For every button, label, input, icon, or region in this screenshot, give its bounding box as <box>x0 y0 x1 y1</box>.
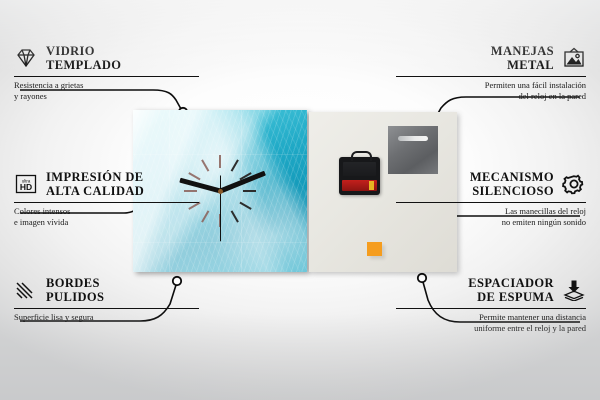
mechanism-housing <box>343 162 376 176</box>
feature-description: Resistencia a grietas y rayones <box>14 80 199 101</box>
feature-rule <box>14 202 199 203</box>
clock-center-cap <box>218 189 223 194</box>
feature-title: IMPRESIÓN DE ALTA CALIDAD <box>46 170 144 198</box>
gear-icon <box>562 173 586 195</box>
ultra-hd-icon-hd: HD <box>20 182 32 192</box>
feature-bordes-pulidos: BORDES PULIDOS Superficie lisa y segura <box>14 276 199 323</box>
feature-description: Permiten una fácil instalación del reloj… <box>396 80 586 101</box>
feature-title: BORDES PULIDOS <box>46 276 104 304</box>
feature-vidrio-templado: VIDRIO TEMPLADO Resistencia a grietas y … <box>14 44 199 101</box>
infographic-canvas: VIDRIO TEMPLADO Resistencia a grietas y … <box>0 0 600 400</box>
feature-description: Permite mantener una distancia uniforme … <box>396 312 586 333</box>
feature-title: ESPACIADOR DE ESPUMA <box>468 276 554 304</box>
feature-impresion-alta-calidad: ultra HD IMPRESIÓN DE ALTA CALIDAD Color… <box>14 170 199 227</box>
feature-rule <box>396 76 586 77</box>
feature-description: Superficie lisa y segura <box>14 312 199 323</box>
hanger-slot <box>398 136 428 141</box>
feature-espaciador-de-espuma: ESPACIADOR DE ESPUMA Permite mantener un… <box>396 276 586 333</box>
feature-rule <box>14 76 199 77</box>
clock-second-hand <box>220 175 221 241</box>
foam-spacer-pad <box>367 242 382 256</box>
mechanism-hanging-loop <box>351 151 372 161</box>
ultra-hd-icon: ultra HD <box>14 173 38 195</box>
polished-edges-icon <box>14 279 38 301</box>
feature-description: Las manecillas del reloj no emiten ningú… <box>396 206 586 227</box>
diamond-icon <box>14 47 38 69</box>
battery-compartment <box>342 180 377 191</box>
feature-manejas-metal: MANEJAS METAL Permiten una fácil instala… <box>396 44 586 101</box>
feature-rule <box>14 308 199 309</box>
feature-title: MECANISMO SILENCIOSO <box>470 170 554 198</box>
feature-title: VIDRIO TEMPLADO <box>46 44 121 72</box>
feature-description: Colores intensos e imagen vívida <box>14 206 199 227</box>
picture-hanger-icon <box>562 47 586 69</box>
feature-title: MANEJAS METAL <box>491 44 554 72</box>
feature-mecanismo-silencioso: MECANISMO SILENCIOSO Las manecillas del … <box>396 170 586 227</box>
foam-spacer-icon <box>562 279 586 301</box>
feature-rule <box>396 202 586 203</box>
feature-rule <box>396 308 586 309</box>
clock-mechanism <box>339 157 380 195</box>
metal-hanger-plate <box>388 126 438 174</box>
